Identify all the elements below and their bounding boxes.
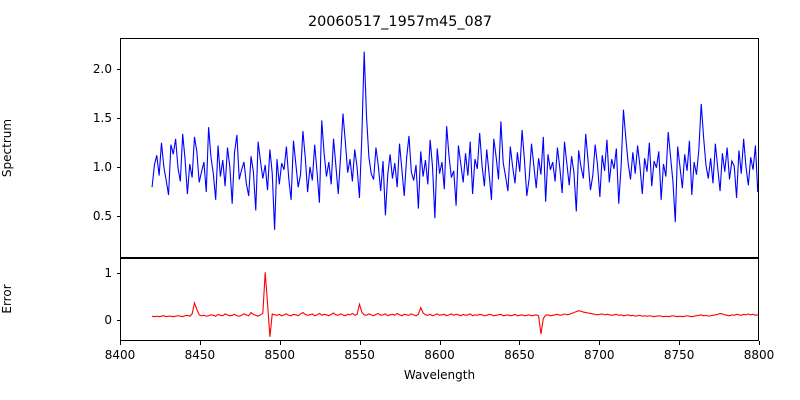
y-tick-mark <box>117 69 121 70</box>
error-plot-panel <box>120 258 759 341</box>
y-tick-label: 0.5 <box>56 209 112 223</box>
y-tick-label: 1.0 <box>56 160 112 174</box>
y-tick-label: 1 <box>56 266 112 280</box>
error-y-axis-label: Error <box>0 284 14 313</box>
y-tick-label: 0 <box>56 313 112 327</box>
y-tick-label: 2.0 <box>56 62 112 76</box>
x-tick-mark <box>120 341 121 345</box>
spectrum-data-line <box>152 52 758 230</box>
y-tick-mark <box>117 320 121 321</box>
x-tick-label: 8800 <box>744 348 775 362</box>
page-title: 20060517_1957m45_087 <box>0 14 800 30</box>
y-tick-mark <box>117 118 121 119</box>
spectrum-line-chart <box>121 39 758 257</box>
x-tick-label: 8450 <box>185 348 216 362</box>
x-tick-mark <box>440 341 441 345</box>
x-tick-mark <box>759 341 760 345</box>
y-tick-mark <box>117 273 121 274</box>
x-tick-label: 8500 <box>265 348 296 362</box>
y-tick-label: 1.5 <box>56 111 112 125</box>
error-line-chart <box>121 259 758 340</box>
x-tick-mark <box>200 341 201 345</box>
x-tick-label: 8650 <box>504 348 535 362</box>
x-tick-label: 8600 <box>424 348 455 362</box>
x-tick-mark <box>679 341 680 345</box>
spectrum-y-axis-label: Spectrum <box>0 119 14 177</box>
error-data-line <box>152 272 758 337</box>
x-tick-mark <box>360 341 361 345</box>
matplotlib-figure: 20060517_1957m45_087 Spectrum 0.51.01.52… <box>0 0 800 400</box>
x-tick-label: 8400 <box>105 348 136 362</box>
x-tick-mark <box>519 341 520 345</box>
x-tick-label: 8750 <box>664 348 695 362</box>
spectrum-plot-panel <box>120 38 759 258</box>
x-tick-label: 8550 <box>344 348 375 362</box>
x-tick-mark <box>280 341 281 345</box>
x-tick-label: 8700 <box>584 348 615 362</box>
y-tick-mark <box>117 167 121 168</box>
x-axis-label: Wavelength <box>404 368 475 382</box>
x-tick-mark <box>599 341 600 345</box>
y-tick-mark <box>117 216 121 217</box>
